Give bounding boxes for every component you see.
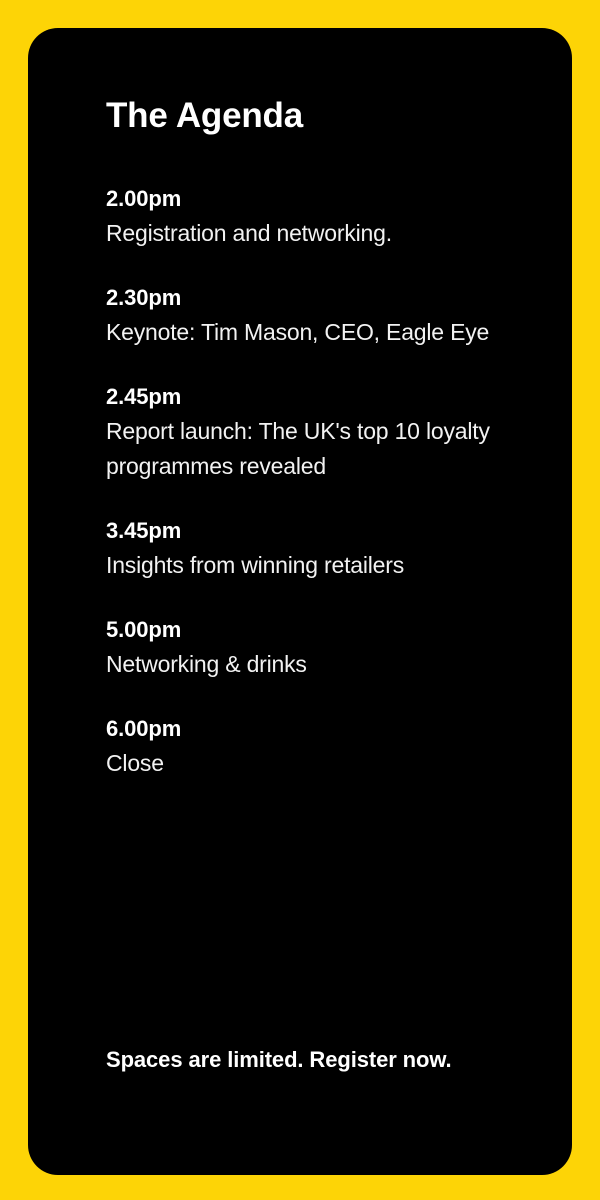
agenda-list: 2.00pm Registration and networking. 2.30… [106,182,528,781]
list-item: 3.45pm Insights from winning retailers [106,514,506,583]
list-item: 6.00pm Close [106,712,506,781]
agenda-card-content: The Agenda 2.00pm Registration and netwo… [28,28,572,1175]
agenda-item-description: Keynote: Tim Mason, CEO, Eagle Eye [106,315,506,350]
agenda-item-time: 3.45pm [106,514,506,548]
agenda-item-description: Report launch: The UK's top 10 loyalty p… [106,414,506,484]
list-item: 2.30pm Keynote: Tim Mason, CEO, Eagle Ey… [106,281,506,350]
page-title: The Agenda [106,96,528,136]
list-item: 5.00pm Networking & drinks [106,613,506,682]
registration-call-to-action: Spaces are limited. Register now. [106,1043,476,1077]
list-item: 2.00pm Registration and networking. [106,182,506,251]
agenda-item-time: 2.30pm [106,281,506,315]
layout-spacer [106,781,528,1043]
agenda-poster: The Agenda 2.00pm Registration and netwo… [0,0,600,1200]
agenda-item-time: 2.00pm [106,182,506,216]
agenda-item-time: 5.00pm [106,613,506,647]
agenda-item-description: Insights from winning retailers [106,548,506,583]
agenda-item-time: 2.45pm [106,380,506,414]
agenda-item-time: 6.00pm [106,712,506,746]
agenda-item-description: Close [106,746,506,781]
agenda-item-description: Networking & drinks [106,647,506,682]
agenda-card: The Agenda 2.00pm Registration and netwo… [28,28,572,1175]
agenda-item-description: Registration and networking. [106,216,506,251]
list-item: 2.45pm Report launch: The UK's top 10 lo… [106,380,506,484]
